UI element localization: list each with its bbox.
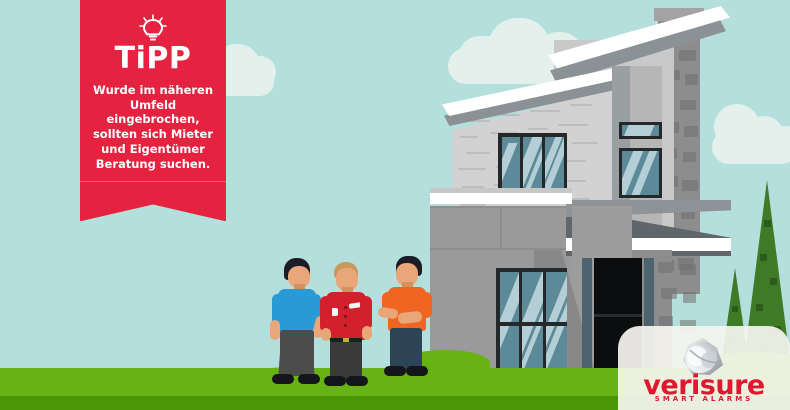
shoe-right (346, 376, 368, 386)
shoe-left (324, 376, 346, 386)
shoe-right (406, 366, 428, 376)
person-orange-shirt (376, 256, 434, 378)
shoe-left (272, 374, 294, 384)
hand-right (362, 326, 372, 340)
arm-left (320, 296, 332, 332)
shoe-right (298, 374, 320, 384)
tip-banner-body: TiPP Wurde im näheren Umfeld eingebroche… (80, 0, 226, 181)
forearm-left (270, 320, 280, 340)
jacket-button-2 (344, 315, 347, 318)
shoe-left (384, 366, 406, 376)
tip-banner: TiPP Wurde im näheren Umfeld eingebroche… (80, 0, 226, 221)
person-technician-red (318, 262, 376, 386)
illustration-canvas: TiPP Wurde im näheren Umfeld eingebroche… (0, 0, 790, 410)
upper-storey-base-band (430, 192, 572, 204)
lightbulb-icon (133, 14, 173, 42)
verisure-tagline: SMART ALARMS (618, 395, 790, 403)
tip-title: TiPP (80, 44, 226, 74)
jacket-button-3 (344, 324, 347, 327)
jacket-button-1 (344, 306, 347, 309)
tip-body-text: Wurde im näheren Umfeld eingebrochen, so… (80, 74, 226, 177)
arm-right (360, 296, 372, 330)
forearm-left (377, 307, 398, 320)
tip-banner-ribbon-tail (80, 181, 226, 221)
